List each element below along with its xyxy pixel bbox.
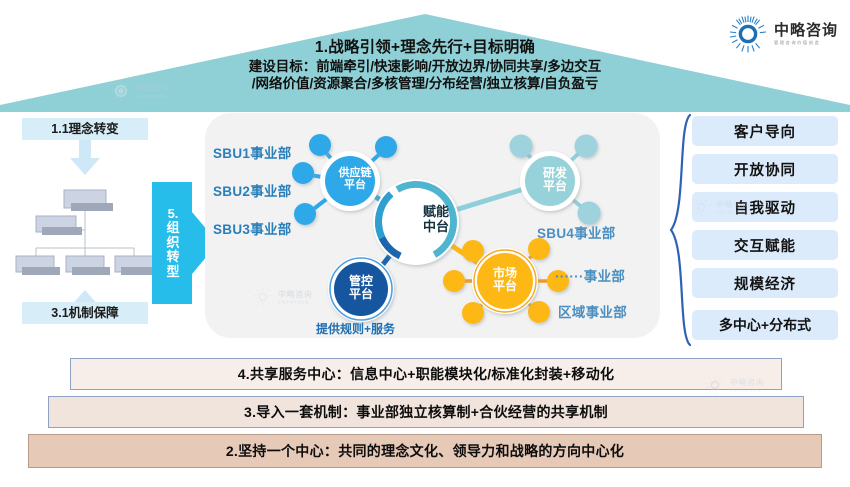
principle-item-5[interactable]: 多中心+分布式	[692, 310, 838, 340]
platform-node-control	[328, 256, 394, 322]
roof-line-2: 建设目标：前端牵引/快速影响/开放边界/协同共享/多边交互	[0, 58, 850, 75]
principle-item-1[interactable]: 开放协同	[692, 154, 838, 184]
logo-name: 中略咨询	[774, 23, 838, 38]
platform-node-market	[472, 248, 538, 314]
curly-brace-icon	[668, 112, 694, 348]
watermark-center: 中略咨询 管理咨询价值创造	[252, 286, 312, 308]
arrow-down-icon	[69, 140, 101, 176]
principle-item-3[interactable]: 交互赋能	[692, 230, 838, 260]
principle-item-4[interactable]: 规模经济	[692, 268, 838, 298]
tr-line-0: 5.	[168, 207, 179, 222]
sbu-label-2: SBU2事业部	[213, 180, 292, 200]
roof-text-block: 1.战略引领+理念先行+目标明确 建设目标：前端牵引/快速影响/开放边界/协同共…	[0, 38, 850, 92]
logo-tagline: 管理咨询价值创造	[774, 41, 838, 45]
tr-line-3: 转	[166, 250, 179, 265]
watermark-bottom-right: 中略咨询 管理咨询价值创造	[704, 374, 764, 396]
roof-line-3: /网络价值/资源聚合/多核管理/分布经营/独立核算/自负盈亏	[0, 75, 850, 92]
sbu-label-1: SBU1事业部	[213, 142, 292, 162]
watermark-tagline: 管理咨询价值创造	[278, 301, 312, 304]
sbu-label-ellipsis: ······事业部	[555, 265, 625, 285]
watermark-name: 中略咨询	[730, 379, 764, 387]
slide-canvas: 1.战略引领+理念先行+目标明确 建设目标：前端牵引/快速影响/开放边界/协同共…	[0, 0, 850, 487]
brand-logo: 中略咨询 管理咨询价值创造	[728, 14, 838, 54]
bottom-bar-one-center[interactable]: 2.坚持一个中心：共同的理念文化、领导力和战略的方向中心化	[28, 434, 822, 468]
watermark-name: 中略咨询	[716, 201, 750, 209]
watermark-tagline: 管理咨询价值创造	[716, 211, 750, 214]
org-transformation-label: 5. 组 织 转 型	[156, 186, 190, 300]
watermark-tagline: 管理咨询价值创造	[136, 95, 170, 98]
principle-item-0[interactable]: 客户导向	[692, 116, 838, 146]
tr-line-2: 织	[166, 236, 179, 251]
watermark-right: 中略咨询 管理咨询价值创造	[690, 196, 750, 218]
label-mechanism-guarantee: 3.1机制保障	[22, 302, 148, 324]
roof-title: 1.战略引领+理念先行+目标明确	[0, 38, 850, 58]
org-chart-icon	[14, 186, 156, 286]
platform-node-rnd	[520, 151, 580, 211]
sunburst-circle-icon	[690, 196, 712, 218]
bottom-bar-mechanism[interactable]: 3.导入一套机制：事业部独立核算制+合伙经营的共享机制	[48, 396, 804, 428]
hub-node	[365, 171, 467, 273]
sbu-label-3: SBU3事业部	[213, 218, 292, 238]
tr-line-1: 组	[166, 221, 179, 236]
sunburst-circle-icon	[728, 14, 768, 54]
sunburst-circle-icon	[704, 374, 726, 396]
label-idea-transformation: 1.1理念转变	[22, 118, 148, 140]
sbu-label-4: SBU4事业部	[537, 222, 616, 242]
sunburst-circle-icon	[252, 286, 274, 308]
bottom-bar-shared-service[interactable]: 4.共享服务中心：信息中心+职能模块化/标准化封装+移动化	[70, 358, 782, 390]
watermark-tagline: 管理咨询价值创造	[730, 389, 764, 392]
control-platform-caption: 提供规则+服务	[316, 320, 395, 337]
tr-line-4: 型	[166, 265, 179, 280]
watermark-name: 中略咨询	[278, 291, 312, 299]
platform-node-supply	[320, 151, 380, 211]
sbu-label-region: 区域事业部	[558, 301, 627, 321]
